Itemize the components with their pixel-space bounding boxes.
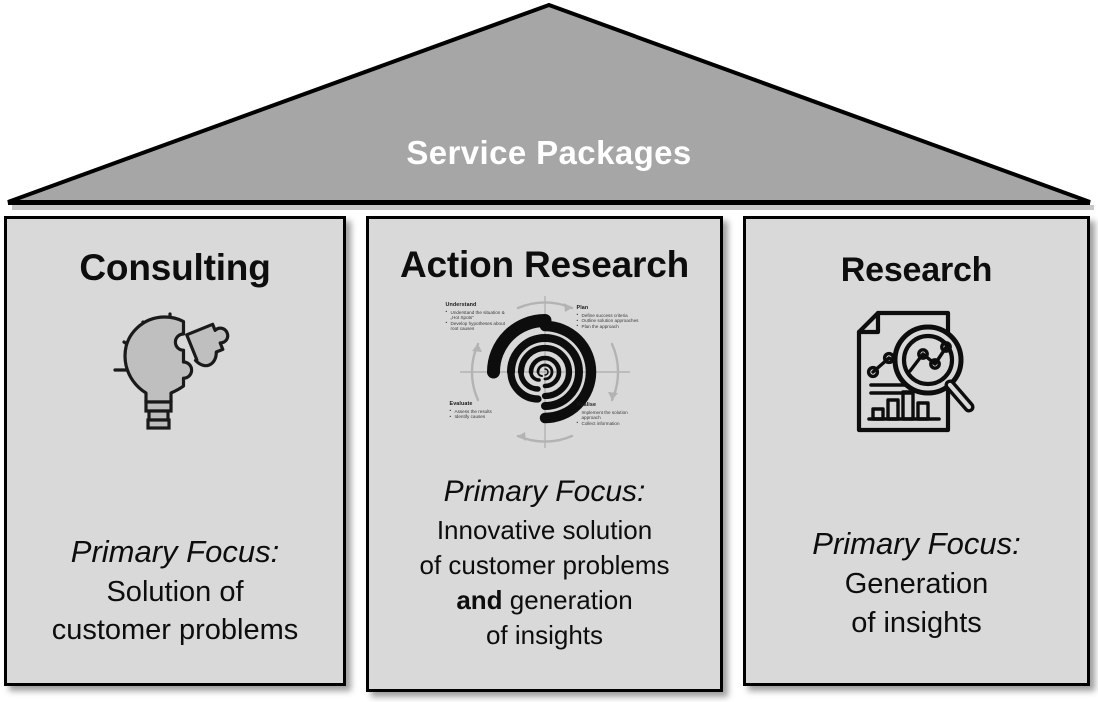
- pillar-action-research[interactable]: Action Research: [366, 216, 723, 692]
- quadrant-evaluate: Evaluate Assess the results Identify cau…: [450, 401, 516, 420]
- focus-line-rest: generation: [503, 585, 633, 615]
- icon-area-consulting: [7, 295, 343, 445]
- quadrant-bullet: Identify causes: [450, 414, 516, 420]
- focus-line: Solution of: [7, 573, 343, 611]
- quadrant-bullet: Plan the approach: [577, 324, 643, 330]
- quadrant-title: Evaluate: [450, 401, 516, 407]
- focus-line: of customer problems: [369, 548, 720, 583]
- quadrant-bullet: Implement the solution approach: [577, 410, 643, 421]
- quadrant-bullets: Implement the solution approach Collect …: [577, 410, 643, 427]
- lightbulb-puzzle-icon: [100, 300, 250, 440]
- focus-block-consulting: Primary Focus: Solution of customer prob…: [7, 531, 343, 649]
- quadrant-understand: Understand Understand the situation & „H…: [446, 302, 512, 332]
- focus-block-action-research: Primary Focus: Innovative solution of cu…: [369, 471, 720, 653]
- roof-container: Service Packages: [0, 0, 1098, 212]
- quadrant-title: Understand: [446, 302, 512, 308]
- quadrant-plan: Plan Define success criteria Outline sol…: [577, 305, 643, 329]
- quadrant-realise: Realise Implement the solution approach …: [577, 402, 643, 426]
- pillar-consulting[interactable]: Consulting: [4, 216, 346, 686]
- quadrant-bullet: Collect information: [577, 421, 643, 427]
- quadrant-title: Realise: [577, 402, 643, 408]
- focus-block-research: Primary Focus: Generation of insights: [746, 522, 1087, 643]
- focus-bold-word: and: [456, 585, 502, 615]
- quadrant-bullets: Define success criteria Outline solution…: [577, 313, 643, 330]
- pillar-title-research: Research: [746, 251, 1087, 290]
- icon-area-research: [746, 300, 1087, 442]
- focus-line: customer problems: [7, 611, 343, 649]
- quadrant-bullets: Assess the results Identify causes: [450, 409, 516, 420]
- quadrant-bullets: Understand the situation & „Hot Spots“ D…: [446, 310, 512, 332]
- quadrant-title: Plan: [577, 305, 643, 311]
- document-chart-magnifier-icon: [851, 308, 983, 434]
- focus-line: of insights: [369, 618, 720, 653]
- quadrant-bullet: Understand the situation & „Hot Spots“: [446, 310, 512, 321]
- focus-line: Innovative solution: [369, 513, 720, 548]
- page-title: Service Packages: [0, 133, 1098, 173]
- roof-triangle-icon: [0, 0, 1098, 212]
- focus-line: Generation: [746, 565, 1087, 604]
- focus-label-action-research: Primary Focus:: [369, 471, 720, 513]
- quadrant-bullet: Develop hypotheses about root causes: [446, 321, 512, 332]
- action-research-spiral-icon: Understand Understand the situation & „H…: [440, 288, 650, 456]
- pillar-research[interactable]: Research: [743, 216, 1090, 686]
- pillar-title-consulting: Consulting: [7, 247, 343, 289]
- service-packages-diagram: Service Packages Consulting: [0, 0, 1098, 702]
- focus-label-consulting: Primary Focus:: [7, 531, 343, 573]
- pillar-title-action-research: Action Research: [369, 244, 720, 286]
- focus-line: of insights: [746, 604, 1087, 643]
- focus-line-emphasis: and generation: [369, 583, 720, 618]
- focus-label-research: Primary Focus:: [746, 522, 1087, 565]
- icon-area-action-research: Understand Understand the situation & „H…: [369, 288, 720, 456]
